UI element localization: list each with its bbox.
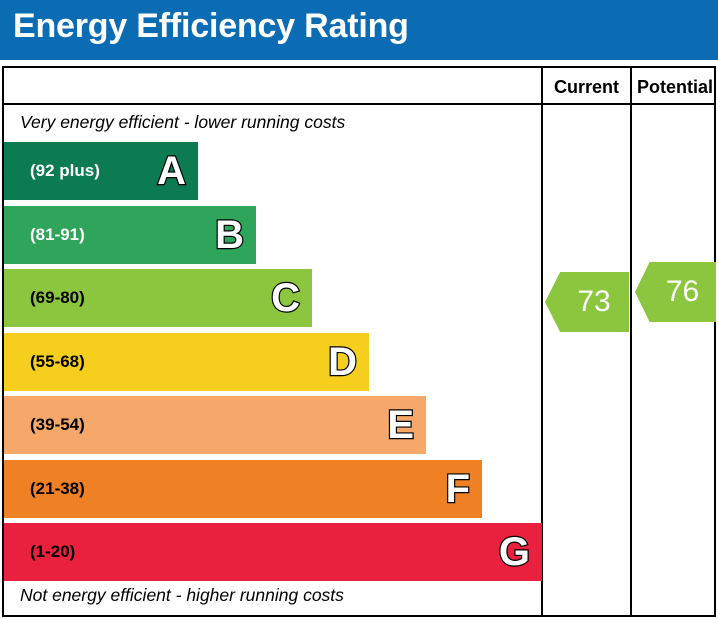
band-letter-b: B bbox=[215, 215, 244, 255]
band-range-label: (55-68) bbox=[30, 352, 85, 372]
band-range-label: (39-54) bbox=[30, 415, 85, 435]
caption-bottom: Not energy efficient - higher running co… bbox=[20, 585, 344, 606]
band-range-label: (69-80) bbox=[30, 288, 85, 308]
potential-rating-arrow: 76 bbox=[635, 262, 716, 322]
band-range-label: (1-20) bbox=[30, 542, 75, 562]
band-a: (92 plus)A bbox=[4, 142, 198, 200]
band-letter-e: E bbox=[387, 405, 414, 445]
band-f: (21-38)F bbox=[4, 460, 482, 518]
chart-title-bar: Energy Efficiency Rating bbox=[0, 0, 718, 60]
energy-efficiency-rating-chart: Energy Efficiency Rating Current Potenti… bbox=[0, 0, 718, 619]
band-letter-c: C bbox=[271, 278, 300, 318]
band-g: (1-20)G bbox=[4, 523, 542, 581]
potential-column-divider bbox=[630, 68, 632, 615]
current-rating-value: 73 bbox=[577, 287, 610, 317]
column-header-potential: Potential bbox=[632, 75, 718, 99]
band-letter-d: D bbox=[328, 342, 357, 382]
page-title: Energy Efficiency Rating bbox=[13, 7, 409, 46]
column-header-current: Current bbox=[543, 75, 630, 99]
header-divider bbox=[4, 103, 714, 105]
band-letter-f: F bbox=[446, 469, 470, 509]
potential-rating-value: 76 bbox=[666, 277, 699, 307]
band-c: (69-80)C bbox=[4, 269, 312, 327]
band-letter-a: A bbox=[157, 151, 186, 191]
band-range-label: (92 plus) bbox=[30, 161, 100, 181]
band-range-label: (81-91) bbox=[30, 225, 85, 245]
band-b: (81-91)B bbox=[4, 206, 256, 264]
band-d: (55-68)D bbox=[4, 333, 369, 391]
band-range-label: (21-38) bbox=[30, 479, 85, 499]
caption-top: Very energy efficient - lower running co… bbox=[20, 112, 345, 133]
current-rating-arrow: 73 bbox=[545, 272, 629, 332]
band-letter-g: G bbox=[499, 532, 530, 572]
band-e: (39-54)E bbox=[4, 396, 426, 454]
rating-table: Current Potential Very energy efficient … bbox=[2, 66, 716, 617]
